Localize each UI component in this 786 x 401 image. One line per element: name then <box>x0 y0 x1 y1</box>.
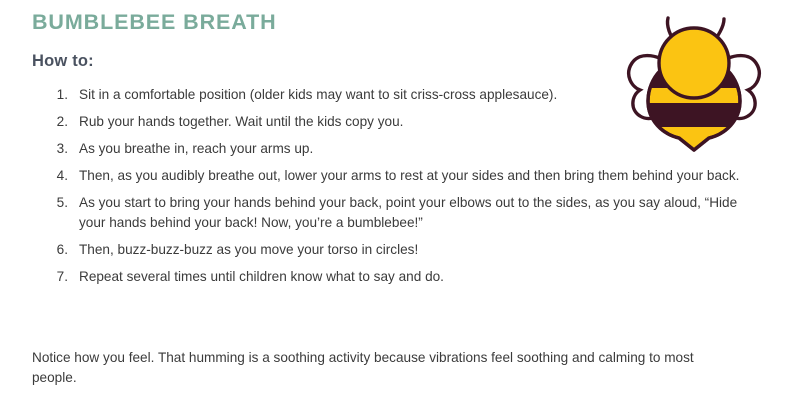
list-item-number: 3. <box>46 139 68 159</box>
list-item-text: Repeat several times until children know… <box>79 267 746 287</box>
list-item-number: 4. <box>46 166 68 186</box>
list-item: 7. Repeat several times until children k… <box>46 267 746 287</box>
how-to-heading: How to: <box>32 52 94 71</box>
list-item-text: As you breathe in, reach your arms up. <box>79 139 584 159</box>
list-item-number: 2. <box>46 112 68 132</box>
bee-head <box>659 28 729 98</box>
list-item-text: Then, as you audibly breathe out, lower … <box>79 166 746 186</box>
list-item-text: As you start to bring your hands behind … <box>79 193 746 232</box>
page-root: BUMBLEBEE BREATH How to: 1. Sit in a com… <box>0 0 786 401</box>
list-item-number: 5. <box>46 193 68 213</box>
list-item-text: Then, buzz-buzz-buzz as you move your to… <box>79 240 746 260</box>
list-item-text: Sit in a comfortable position (older kid… <box>79 85 584 105</box>
list-item-text: Rub your hands together. Wait until the … <box>79 112 584 132</box>
list-item-number: 1. <box>46 85 68 105</box>
list-item: 5. As you start to bring your hands behi… <box>46 193 746 232</box>
list-item-number: 6. <box>46 240 68 260</box>
list-item-number: 7. <box>46 267 68 287</box>
page-title: BUMBLEBEE BREATH <box>32 10 277 35</box>
list-item: 4. Then, as you audibly breathe out, low… <box>46 166 746 186</box>
list-item: 6. Then, buzz-buzz-buzz as you move your… <box>46 240 746 260</box>
bumblebee-icon <box>614 2 774 152</box>
closing-note: Notice how you feel. That humming is a s… <box>32 348 722 387</box>
bumblebee-illustration <box>614 2 774 152</box>
